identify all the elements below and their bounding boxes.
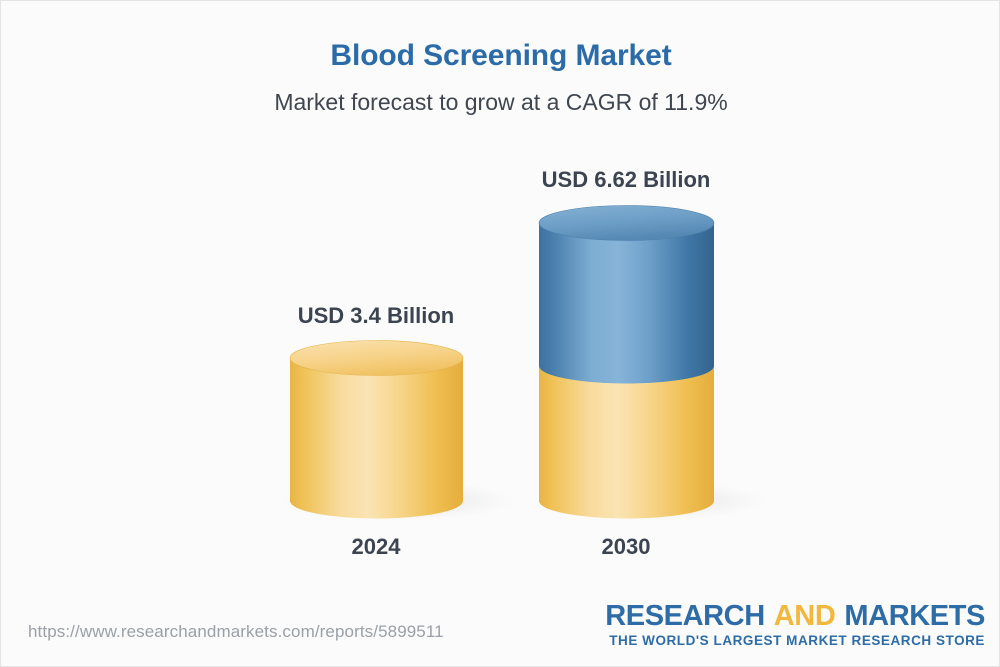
bar-2024-top-cap	[290, 341, 463, 376]
cylinder-bars-svg	[1, 1, 1000, 601]
logo-word-markets: MARKETS	[844, 600, 985, 632]
bar-2030[interactable]	[531, 206, 767, 522]
bar-2030-growth-segment	[539, 223, 714, 383]
bar-2024[interactable]	[281, 341, 517, 522]
research-and-markets-logo[interactable]: RESEARCHANDMARKETS THE WORLD'S LARGEST M…	[605, 601, 985, 648]
value-label-2024: USD 3.4 Billion	[246, 303, 506, 329]
category-label-2024: 2024	[246, 534, 506, 560]
bar-2024-body	[290, 358, 463, 518]
logo-tagline: THE WORLD'S LARGEST MARKET RESEARCH STOR…	[605, 633, 985, 648]
value-label-2030: USD 6.62 Billion	[496, 167, 756, 193]
category-label-2030: 2030	[496, 534, 756, 560]
logo-word-and: AND	[774, 600, 836, 632]
chart-canvas: Blood Screening Market Market forecast t…	[0, 0, 1000, 667]
bar-2030-top-cap	[539, 206, 714, 241]
logo-word-research: RESEARCH	[605, 600, 765, 632]
report-url[interactable]: https://www.researchandmarkets.com/repor…	[28, 622, 444, 642]
logo-wordmark: RESEARCHANDMARKETS	[605, 601, 985, 631]
plot-area: USD 3.4 Billion USD 6.62 Billion 2024 20…	[1, 1, 1000, 601]
